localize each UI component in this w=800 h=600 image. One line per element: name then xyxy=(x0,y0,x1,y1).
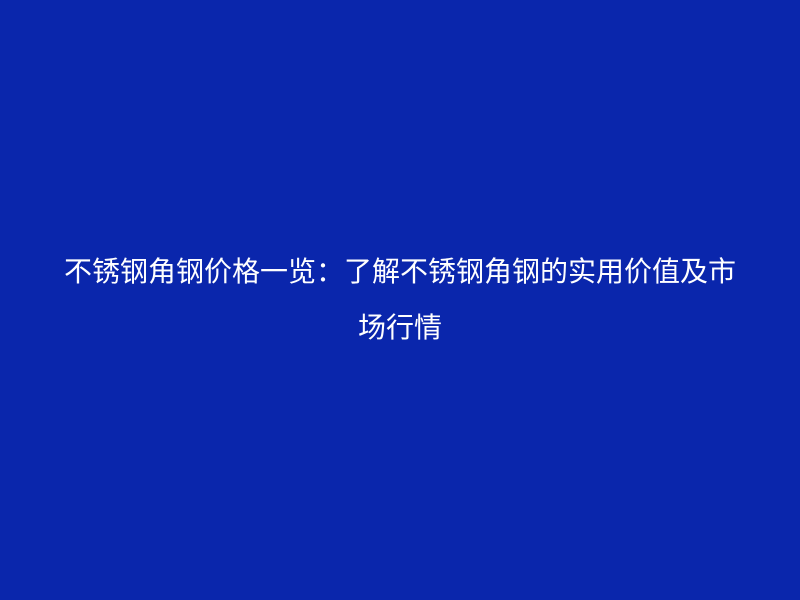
page-title: 不锈钢角钢价格一览：了解不锈钢角钢的实用价值及市场行情 xyxy=(60,244,740,356)
title-card-canvas: 不锈钢角钢价格一览：了解不锈钢角钢的实用价值及市场行情 xyxy=(0,0,800,600)
title-block: 不锈钢角钢价格一览：了解不锈钢角钢的实用价值及市场行情 xyxy=(50,244,750,356)
